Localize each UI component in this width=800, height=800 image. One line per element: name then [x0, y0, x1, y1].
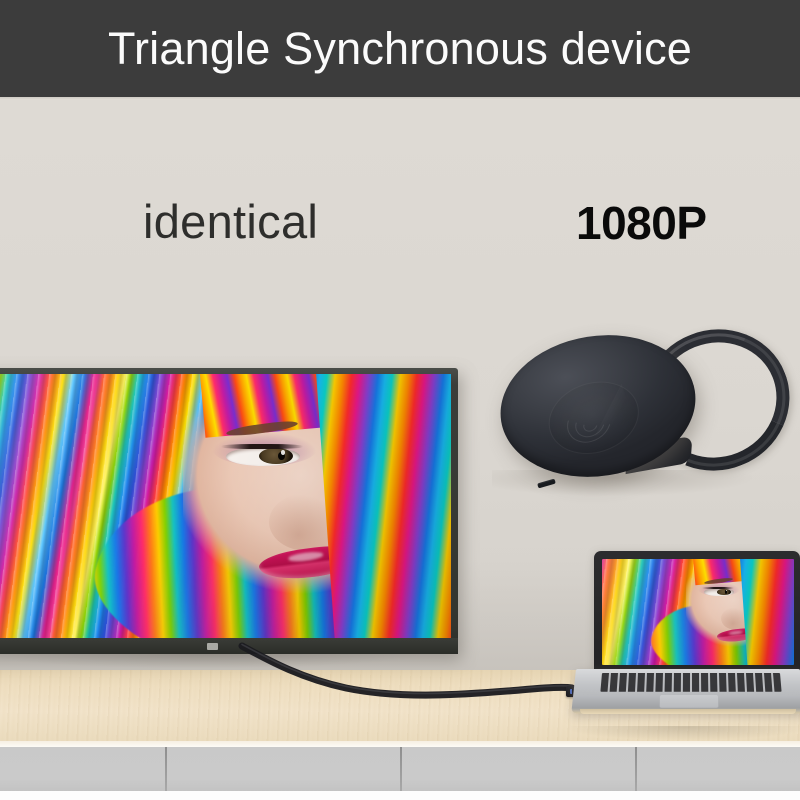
cabinet-seam — [400, 747, 402, 791]
television — [0, 368, 458, 654]
tv-screen — [0, 374, 451, 638]
cast-icon — [539, 370, 648, 465]
header-divider — [0, 97, 800, 100]
dongle-power-port — [537, 479, 556, 489]
label-identical: identical — [143, 196, 318, 248]
cabinet-seam — [165, 747, 167, 791]
rainbow-hair-artwork — [0, 374, 451, 638]
header-banner: Triangle Synchronous device — [0, 0, 800, 97]
laptop-foot — [580, 709, 796, 714]
rainbow-hair-artwork — [602, 559, 794, 665]
cabinet-seam — [635, 747, 637, 791]
product-image: identical 1080P — [0, 0, 800, 800]
laptop-lid — [594, 551, 800, 672]
laptop-screen — [602, 559, 794, 665]
laptop-keyboard — [600, 673, 781, 692]
tv-brand-logo — [207, 643, 218, 650]
wireless-display-dongle — [496, 318, 796, 508]
laptop-trackpad — [660, 695, 719, 708]
cabinet-base — [0, 791, 800, 800]
label-resolution: 1080P — [576, 198, 707, 249]
laptop — [576, 551, 800, 731]
tv-chin — [0, 638, 458, 654]
page-title: Triangle Synchronous device — [108, 26, 692, 71]
